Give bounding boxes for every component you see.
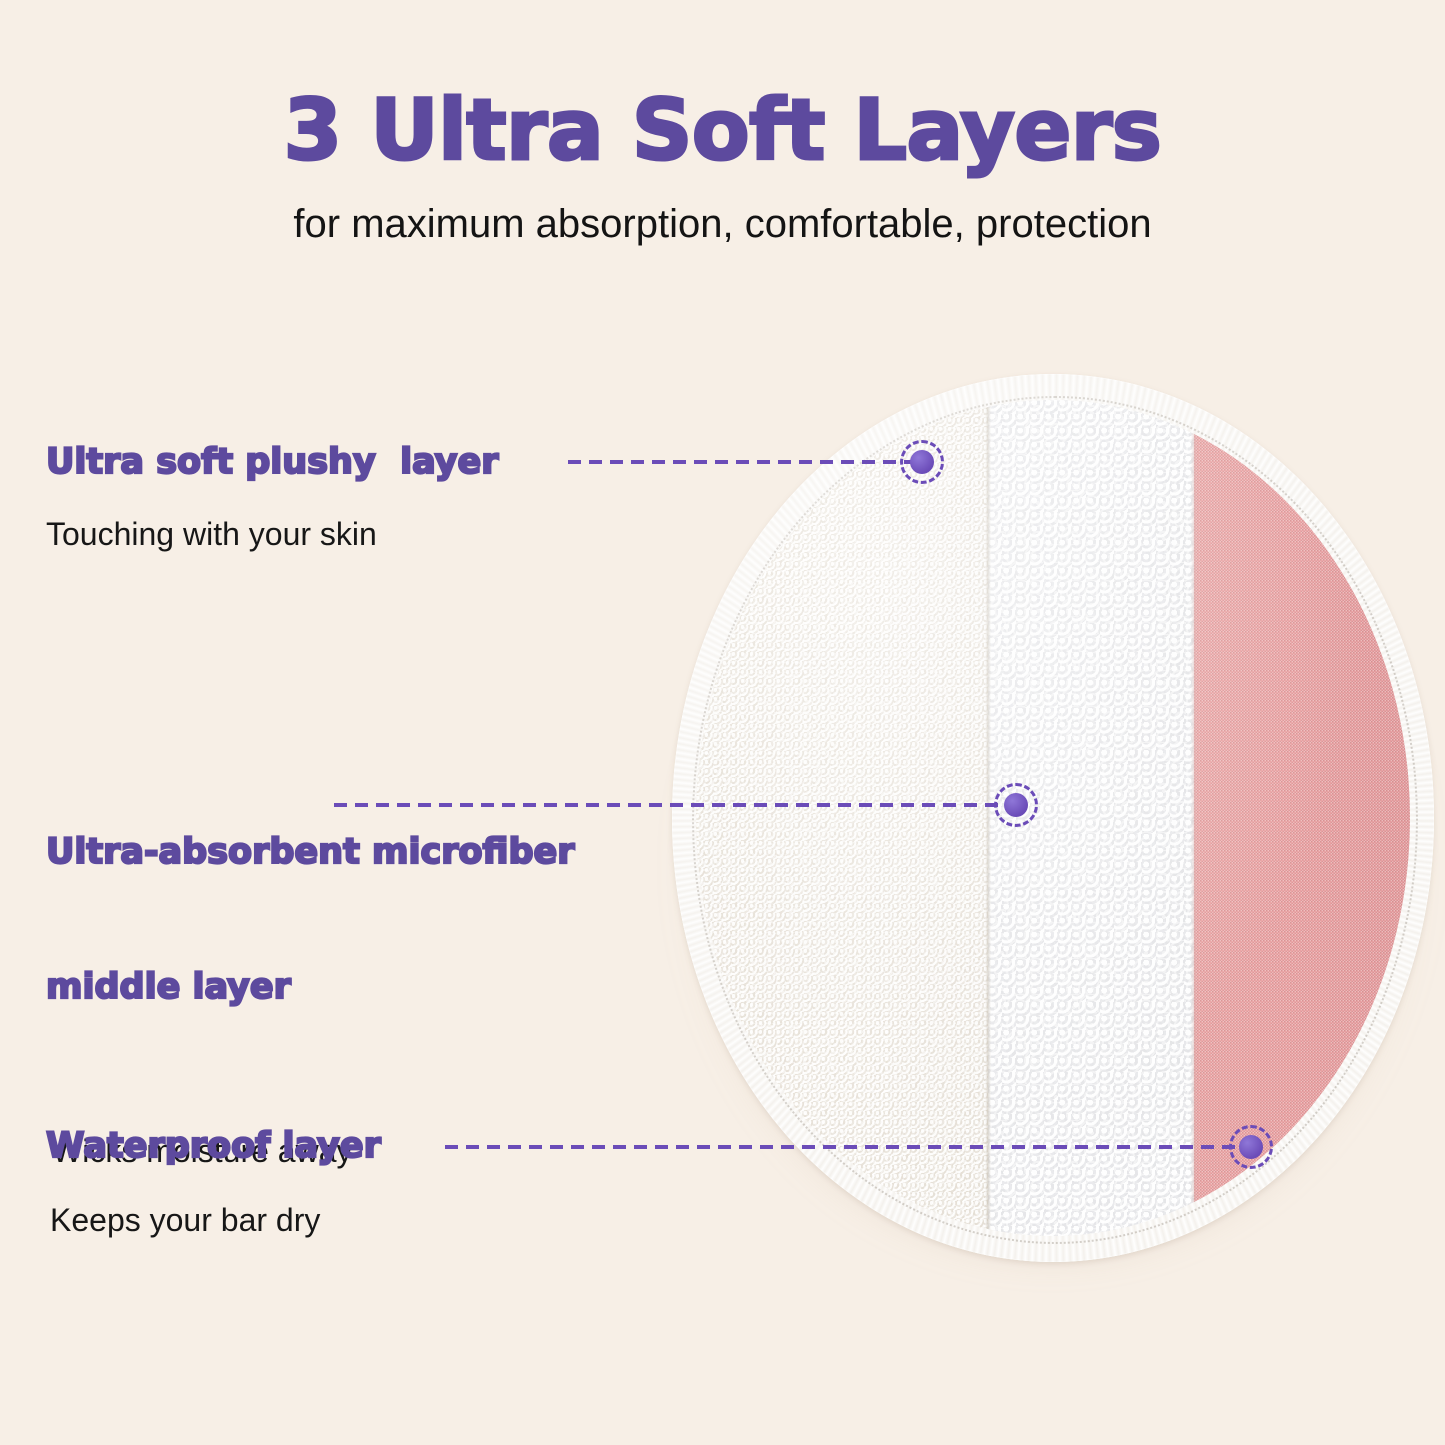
leader-line-waterproof — [445, 1145, 1253, 1149]
page-title: 3 Ultra Soft Layers — [0, 84, 1445, 176]
callout-description: Keeps your bar dry — [50, 1199, 381, 1241]
layer-seam-microfiber-waterproof — [1191, 400, 1197, 1236]
marker-dot-icon — [1239, 1135, 1263, 1159]
infographic-canvas: 3 Ultra Soft Layers for maximum absorpti… — [0, 0, 1445, 1445]
layer-marker-waterproof-icon — [1229, 1125, 1273, 1169]
layer-waterproof-pul — [1194, 400, 1410, 1236]
page-subtitle: for maximum absorption, comfortable, pro… — [0, 198, 1445, 250]
layer-ultra-soft-plushy — [696, 400, 988, 1236]
callout-waterproof-layer: Waterproof layer Keeps your bar dry — [46, 1124, 381, 1241]
callout-title: Waterproof layer — [46, 1124, 381, 1169]
marker-dot-icon — [910, 450, 934, 474]
pad-fuzzy-border — [672, 374, 1434, 1262]
leader-line-plushy — [568, 460, 924, 464]
layer-seam-plush-microfiber — [985, 400, 991, 1236]
callout-description: Touching with your skin — [46, 513, 499, 555]
callout-title-line-1: Ultra-absorbent microfiber — [46, 830, 575, 875]
leader-line-microfiber — [334, 803, 1018, 807]
callout-ultra-soft-plushy-layer: Ultra soft plushy layer Touching with yo… — [46, 440, 499, 555]
marker-dot-icon — [1004, 793, 1028, 817]
callout-title: Ultra-absorbent microfiber middle layer — [46, 740, 575, 1100]
layer-marker-microfiber-icon — [994, 783, 1038, 827]
callout-title-line-2: middle layer — [46, 965, 575, 1010]
product-nursing-pad — [672, 374, 1434, 1262]
callout-title: Ultra soft plushy layer — [46, 440, 499, 485]
pul-weave-texture — [1194, 400, 1410, 1236]
layer-marker-plush-icon — [900, 440, 944, 484]
pad-fabric-disc — [696, 400, 1410, 1236]
plush-terry-texture — [696, 400, 988, 1236]
